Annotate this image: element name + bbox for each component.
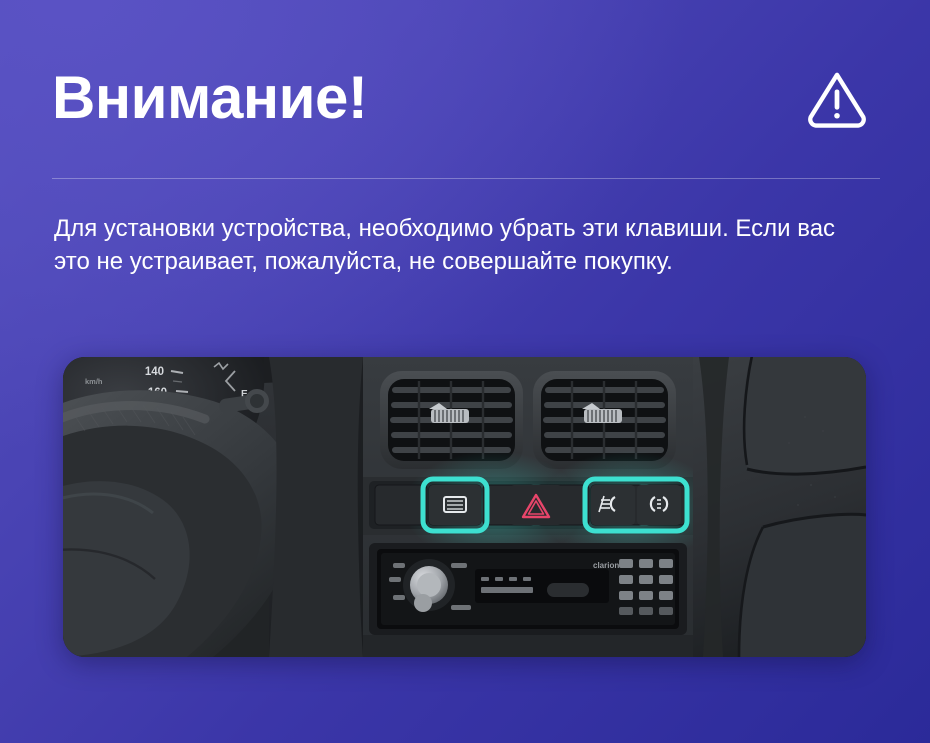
- rear-fog-light-button[interactable]: [637, 485, 681, 525]
- page-title: Внимание!: [52, 68, 367, 128]
- passenger-dashboard: [693, 357, 866, 657]
- dashboard-photo: 140 160 180 200 km/h E C: [63, 357, 866, 657]
- dashboard-illustration: 140 160 180 200 km/h E C: [63, 357, 866, 657]
- header-divider: [52, 178, 880, 179]
- hazard-button[interactable]: [510, 485, 562, 525]
- speed-tick-140: 140: [145, 366, 164, 378]
- car-stereo[interactable]: clarion: [369, 543, 687, 635]
- front-fog-light-button[interactable]: [591, 485, 635, 525]
- stereo-brand: clarion: [593, 561, 619, 570]
- warning-poster: Внимание! Для установки устройства, необ…: [0, 0, 930, 743]
- warning-triangle-icon: [804, 65, 870, 131]
- warning-text: Для установки устройства, необходимо убр…: [54, 212, 854, 278]
- speed-unit-label: km/h: [85, 377, 103, 386]
- header: Внимание!: [52, 52, 882, 144]
- stereo-preset-buttons[interactable]: [619, 559, 673, 600]
- rear-defogger-button[interactable]: [429, 485, 481, 525]
